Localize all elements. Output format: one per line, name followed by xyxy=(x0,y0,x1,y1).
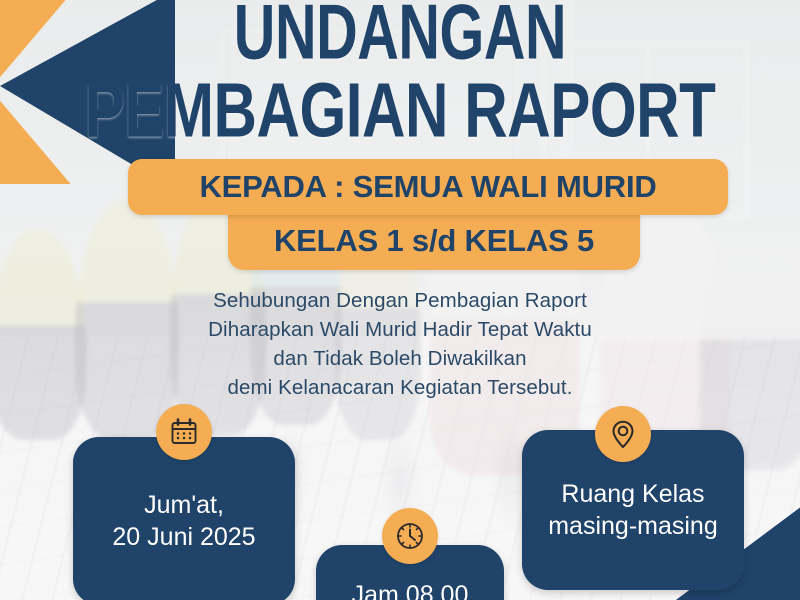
body-line: Diharapkan Wali Murid Hadir Tepat Waktu xyxy=(0,315,800,344)
body-line: Sehubungan Dengan Pembagian Raport xyxy=(0,286,800,315)
body-paragraph: Sehubungan Dengan Pembagian Raport Dihar… xyxy=(0,286,800,402)
recipient-banner-main: KEPADA : SEMUA WALI MURID xyxy=(128,159,728,215)
place-line-2: masing-masing xyxy=(548,510,718,543)
date-line-2: 20 Juni 2025 xyxy=(112,521,255,554)
clock-icon xyxy=(382,508,438,564)
body-line: dan Tidak Boleh Diwakilkan xyxy=(0,344,800,373)
invitation-poster: UNDANGAN PEMBAGIAN RAPORT KELAS 1 s/d KE… xyxy=(0,0,800,600)
date-line-1: Jum'at, xyxy=(112,489,255,522)
poster-headline: UNDANGAN PEMBAGIAN RAPORT xyxy=(0,0,800,135)
time-line-1: Jam 08.00 xyxy=(352,579,469,600)
headline-line-2: PEMBAGIAN RAPORT xyxy=(24,73,776,148)
recipient-banner-class: KELAS 1 s/d KELAS 5 xyxy=(228,212,640,270)
calendar-icon xyxy=(156,404,212,460)
map-pin-icon xyxy=(595,406,651,462)
event-date-card: Jum'at, 20 Juni 2025 xyxy=(73,437,295,600)
headline-line-1: UNDANGAN xyxy=(40,0,760,71)
body-line: demi Kelanacaran Kegiatan Tersebut. xyxy=(0,373,800,402)
place-line-1: Ruang Kelas xyxy=(548,478,718,511)
